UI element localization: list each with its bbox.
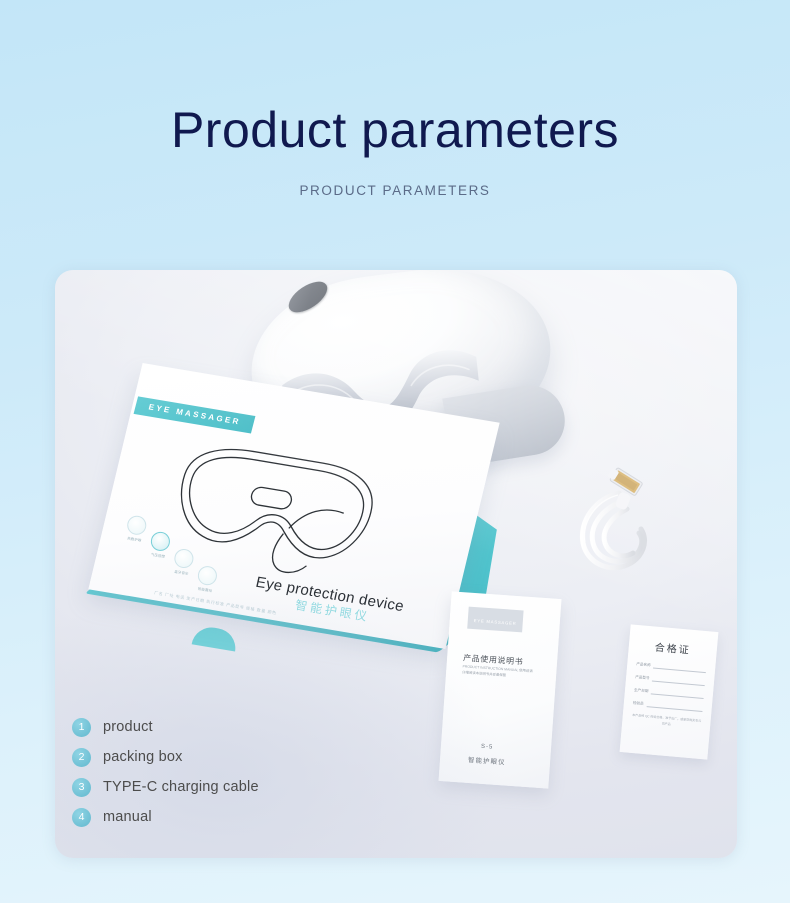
usb-charging-cable bbox=[561, 465, 671, 580]
bluetooth-music-icon: 蓝牙音乐 bbox=[172, 548, 195, 576]
manual-product-name: 智能护眼仪 bbox=[468, 754, 506, 767]
vibration-icon: 智能震动 bbox=[195, 565, 218, 593]
list-item: 1 product bbox=[72, 712, 259, 742]
legend-badge-4: 4 bbox=[72, 808, 91, 827]
field-line bbox=[651, 688, 704, 699]
list-item: 2 packing box bbox=[72, 742, 259, 772]
certificate-card: 合格证 产品名称 产品型号 生产日期 检验员 本产品经 QC 检验合格，准予出厂… bbox=[620, 624, 719, 759]
manual-subtitle: PRODUCT INSTRUCTION MANUAL 使用前请仔细阅读本说明书并… bbox=[462, 664, 535, 681]
page-header: Product parameters PRODUCT PARAMETERS bbox=[0, 0, 790, 198]
contents-legend: 1 product 2 packing box 3 TYPE-C chargin… bbox=[72, 712, 259, 832]
legend-badge-2: 2 bbox=[72, 748, 91, 767]
field-line bbox=[652, 676, 705, 687]
legend-label-3: TYPE-C charging cable bbox=[103, 779, 259, 795]
certificate-row: 产品名称 bbox=[636, 661, 706, 673]
certificate-row: 产品型号 bbox=[635, 674, 705, 686]
page-title: Product parameters bbox=[0, 0, 790, 157]
list-item: 4 manual bbox=[72, 802, 259, 832]
heat-compress-icon: 热敷护眼 bbox=[125, 514, 148, 542]
manual-model: S-5 bbox=[481, 744, 494, 751]
manual-brand-banner: EYE MASSAGER bbox=[467, 607, 523, 633]
legend-label-2: packing box bbox=[103, 749, 183, 765]
certificate-row: 生产日期 bbox=[634, 687, 704, 699]
page-subtitle: PRODUCT PARAMETERS bbox=[0, 157, 790, 198]
certificate-fields: 产品名称 产品型号 生产日期 检验员 bbox=[633, 661, 707, 712]
legend-badge-1: 1 bbox=[72, 718, 91, 737]
certificate-title: 合格证 bbox=[628, 636, 717, 659]
legend-label-4: manual bbox=[103, 809, 152, 825]
instruction-manual: EYE MASSAGER 产品使用说明书 PRODUCT INSTRUCTION… bbox=[439, 591, 562, 788]
air-pressure-icon: 气压按摩 bbox=[148, 530, 171, 558]
field-line bbox=[653, 663, 706, 674]
list-item: 3 TYPE-C charging cable bbox=[72, 772, 259, 802]
manual-brand-text: EYE MASSAGER bbox=[474, 618, 517, 626]
field-line bbox=[646, 701, 703, 712]
legend-badge-3: 3 bbox=[72, 778, 91, 797]
certificate-footer: 本产品经 QC 检验合格，准予出厂。感谢您购买本公司产品 bbox=[631, 713, 702, 730]
certificate-row: 检验员 bbox=[633, 700, 703, 712]
legend-label-1: product bbox=[103, 719, 153, 735]
box-tab-notch bbox=[192, 625, 239, 652]
